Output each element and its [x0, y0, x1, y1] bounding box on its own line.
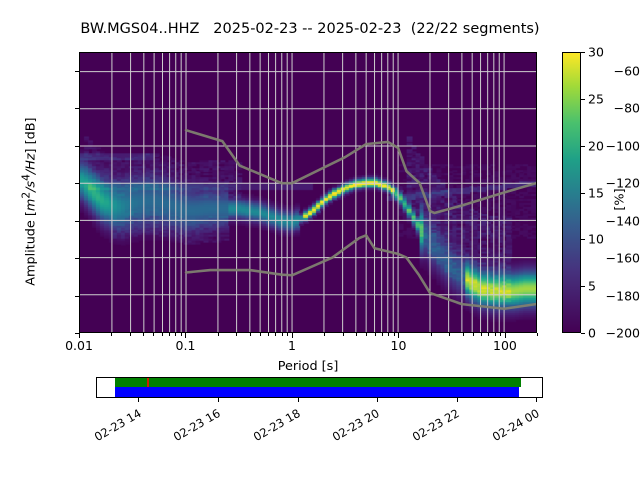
timeline-tick-mark	[218, 398, 219, 402]
timeline-tick-label: 02-23 18	[251, 406, 303, 444]
x-minor-tick	[181, 333, 182, 336]
x-tick-label: 0.01	[65, 338, 93, 353]
y-tick-label: −160	[576, 251, 640, 266]
x-minor-tick	[175, 333, 176, 336]
x-minor-tick	[488, 333, 489, 336]
colorbar-tick-label: 30	[588, 45, 604, 60]
x-minor-tick	[481, 333, 482, 336]
x-minor-tick	[394, 333, 395, 336]
timeline-tick-label: 02-23 16	[171, 406, 223, 444]
colorbar-tick-mark	[581, 239, 585, 240]
x-tick-mark	[185, 333, 186, 338]
x-minor-tick	[260, 333, 261, 336]
y-axis-label: Amplitude [m2/s4/Hz] [dB]	[19, 87, 38, 317]
x-minor-tick	[324, 333, 325, 336]
colorbar-tick-label: 5	[588, 279, 596, 294]
y-tick-mark	[75, 183, 79, 184]
timeline-tick-label: 02-24 00	[489, 406, 541, 444]
colorbar-tick-label: 20	[588, 138, 604, 153]
x-minor-tick	[250, 333, 251, 336]
x-minor-tick	[143, 333, 144, 336]
x-minor-tick	[130, 333, 131, 336]
timeline-tick-label: 02-23 14	[92, 406, 144, 444]
x-minor-tick	[366, 333, 367, 336]
x-tick-mark	[79, 333, 80, 338]
x-minor-tick	[495, 333, 496, 336]
x-tick-mark	[505, 333, 506, 338]
colorbar-tick-label: 10	[588, 232, 604, 247]
y-tick-mark	[75, 71, 79, 72]
colorbar	[562, 52, 581, 333]
colorbar-tick-label: 15	[588, 185, 604, 200]
x-minor-tick	[343, 333, 344, 336]
colorbar-tick-mark	[581, 146, 585, 147]
x-minor-tick	[382, 333, 383, 336]
y-tick-mark	[75, 296, 79, 297]
x-axis-label: Period [s]	[79, 359, 537, 374]
colorbar-tick-mark	[581, 52, 585, 53]
y-tick-label: −200	[576, 326, 640, 341]
ppsd-density-heatmap	[80, 53, 536, 332]
x-tick-mark	[292, 333, 293, 338]
colorbar-tick-label: 25	[588, 91, 604, 106]
y-tick-mark	[75, 221, 79, 222]
y-tick-mark	[75, 146, 79, 147]
y-tick-mark	[75, 108, 79, 109]
x-minor-tick	[236, 333, 237, 336]
x-tick-label: 0.1	[176, 338, 196, 353]
ppsd-figure: BW.MGS04..HHZ 2025-02-23 -- 2025-02-23 (…	[0, 0, 640, 480]
colorbar-label: [%]	[613, 155, 628, 245]
x-tick-label: 100	[493, 338, 517, 353]
y-tick-label: −100	[576, 138, 640, 153]
x-minor-tick	[537, 333, 538, 336]
timeline-tick-mark	[377, 398, 378, 402]
colorbar-tick-mark	[581, 193, 585, 194]
page-title: BW.MGS04..HHZ 2025-02-23 -- 2025-02-23 (…	[0, 21, 620, 37]
colorbar-tick-mark	[581, 286, 585, 287]
x-minor-tick	[375, 333, 376, 336]
x-minor-tick	[275, 333, 276, 336]
timeline-coverage-bar	[96, 377, 543, 398]
x-tick-label: 10	[391, 338, 407, 353]
colorbar-tick-mark	[581, 333, 585, 334]
x-tick-label: 1	[288, 338, 296, 353]
x-minor-tick	[431, 333, 432, 336]
x-tick-mark	[398, 333, 399, 338]
y-tick-label: −80	[576, 101, 640, 116]
data-available-bar	[115, 378, 521, 387]
x-minor-tick	[449, 333, 450, 336]
timeline-tick-mark	[298, 398, 299, 402]
psd-segments-bar	[115, 387, 520, 397]
y-tick-label: −60	[576, 63, 640, 78]
colorbar-tick-mark	[581, 99, 585, 100]
x-minor-tick	[111, 333, 112, 336]
y-tick-mark	[75, 258, 79, 259]
gap-marker	[147, 378, 149, 387]
y-tick-label: −120	[576, 176, 640, 191]
ppsd-plot-area	[79, 52, 537, 333]
x-minor-tick	[356, 333, 357, 336]
timeline-tick-label: 02-23 20	[330, 406, 382, 444]
x-minor-tick	[282, 333, 283, 336]
x-minor-tick	[388, 333, 389, 336]
colorbar-tick-label: 0	[588, 326, 596, 341]
x-minor-tick	[153, 333, 154, 336]
x-minor-tick	[218, 333, 219, 336]
x-minor-tick	[162, 333, 163, 336]
x-minor-tick	[287, 333, 288, 336]
x-minor-tick	[268, 333, 269, 336]
x-minor-tick	[169, 333, 170, 336]
x-minor-tick	[463, 333, 464, 336]
x-minor-tick	[500, 333, 501, 336]
x-minor-tick	[473, 333, 474, 336]
y-tick-label: −140	[576, 213, 640, 228]
timeline-tick-mark	[457, 398, 458, 402]
y-tick-label: −180	[576, 288, 640, 303]
timeline-tick-mark	[138, 398, 139, 402]
timeline-tick-label: 02-23 22	[410, 406, 462, 444]
timeline-tick-mark	[536, 398, 537, 402]
